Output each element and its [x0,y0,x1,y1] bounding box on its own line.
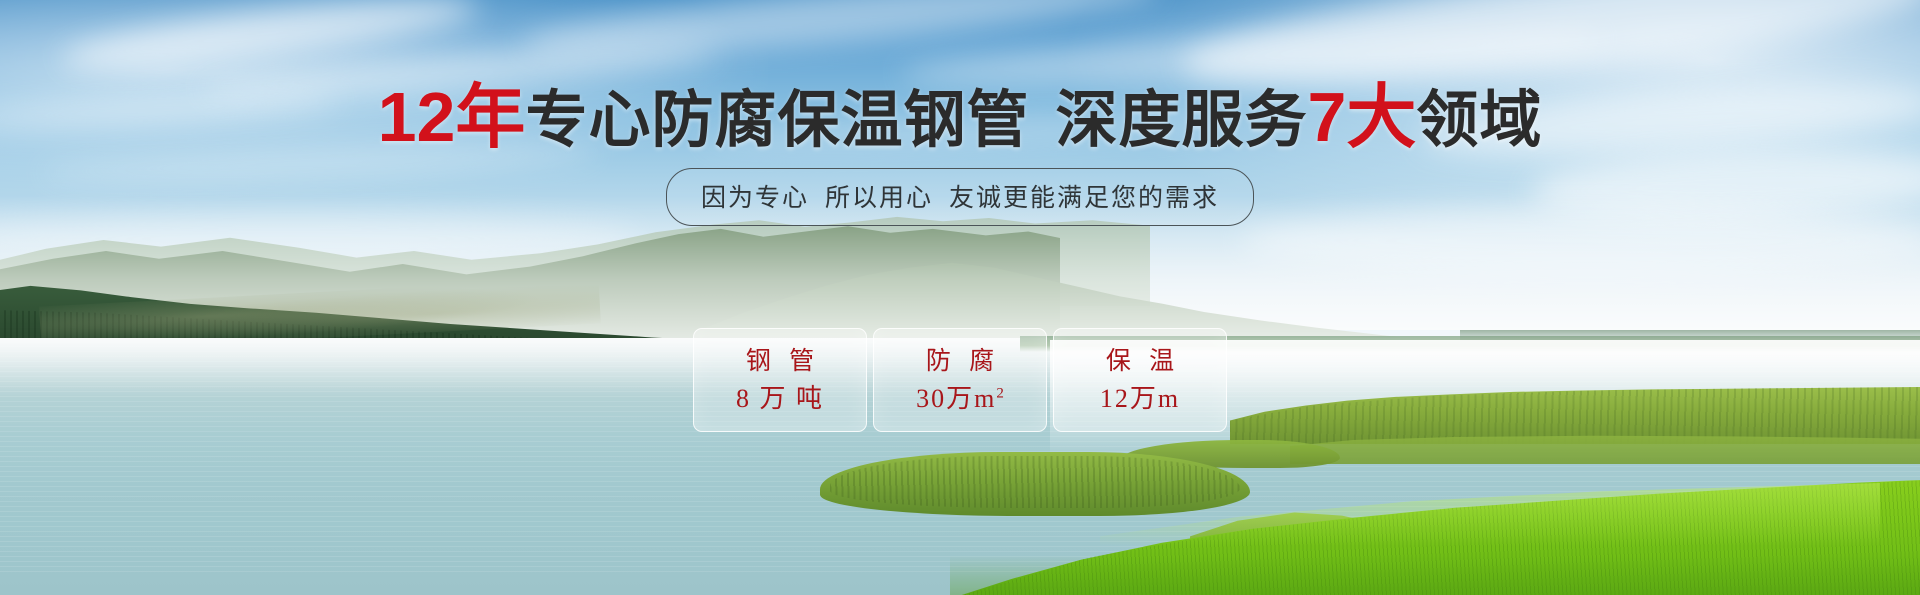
stat-card-title: 钢 管 [740,349,820,374]
banner-subtitle-pill: 因为专心所以用心友诚更能满足您的需求 [666,168,1254,226]
stat-value-text: 30万m [916,384,996,413]
subtitle-segment-1: 因为专心 [701,184,809,212]
stat-card-group: 钢 管 8 万 吨 防 腐 30万m2 保 温 12万m [0,328,1920,432]
banner-headline: 12年专心防腐保温钢管深度服务7大领域 [0,82,1920,152]
stat-value-superscript: 2 [996,385,1004,401]
stat-value-text: 8 万 吨 [736,384,824,413]
headline-years-highlight: 12年 [378,78,526,156]
headline-da-highlight: 大 [1346,78,1416,156]
hero-banner: 12年专心防腐保温钢管深度服务7大领域 因为专心所以用心友诚更能满足您的需求 钢… [0,0,1920,595]
stat-card-steel-pipe: 钢 管 8 万 吨 [693,328,867,432]
subtitle-segment-3: 友诚更能满足您的需求 [949,184,1219,212]
stat-card-title: 保 温 [1100,349,1180,374]
stat-value-text: 12万m [1100,384,1180,413]
stat-card-value: 30万m2 [916,386,1004,412]
headline-seven-highlight: 7 [1307,78,1346,156]
subtitle-segment-2: 所以用心 [825,184,933,212]
headline-fields-text: 领域 [1416,86,1542,155]
headline-main-text: 专心防腐保温钢管 [525,86,1029,155]
stat-card-insulation: 保 温 12万m [1053,328,1227,432]
stat-card-title: 防 腐 [920,349,1000,374]
stat-card-value: 12万m [1100,386,1180,412]
stat-card-anticorrosion: 防 腐 30万m2 [873,328,1047,432]
headline-service-text: 深度服务 [1055,86,1307,155]
banner-subtitle-wrap: 因为专心所以用心友诚更能满足您的需求 [0,168,1920,226]
banner-content: 12年专心防腐保温钢管深度服务7大领域 因为专心所以用心友诚更能满足您的需求 钢… [0,0,1920,595]
stat-card-value: 8 万 吨 [736,386,824,412]
